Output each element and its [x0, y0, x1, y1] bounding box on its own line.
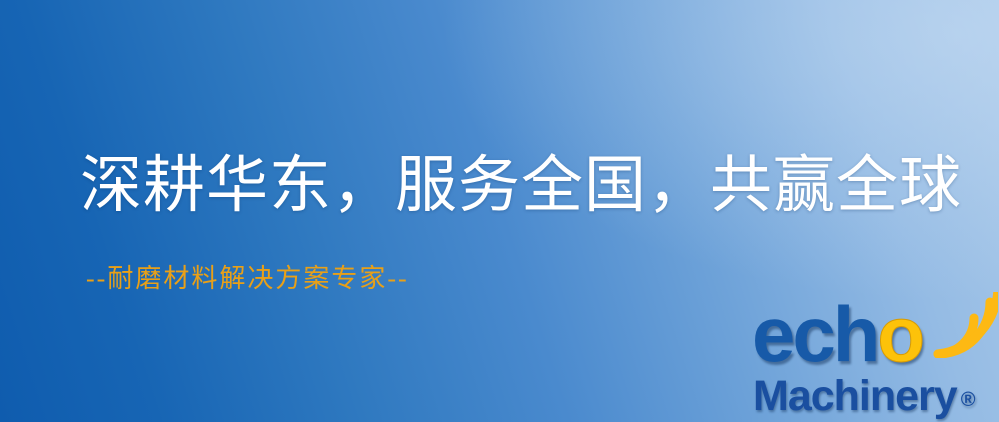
- echo-machinery-logo: echo Machinery®: [752, 296, 999, 422]
- logo-tagline-text: Machinery: [753, 372, 957, 420]
- registered-trademark-icon: ®: [961, 389, 976, 411]
- banner-subtitle: --耐磨材料解决方案专家--: [86, 266, 409, 292]
- echo-wave-arcs-icon: [912, 292, 998, 358]
- promo-banner: 深耕华东，服务全国，共赢全球 --耐磨材料解决方案专家-- echo Machi…: [0, 0, 999, 422]
- logo-tagline: Machinery®: [753, 374, 975, 422]
- logo-wordmark-primary: ech: [752, 290, 877, 378]
- banner-headline: 深耕华东，服务全国，共赢全球: [80, 155, 962, 217]
